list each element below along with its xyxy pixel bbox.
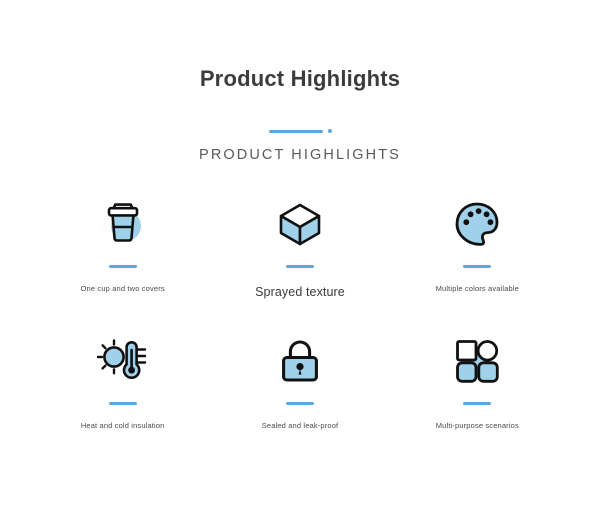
padlock-icon (272, 330, 328, 392)
feature-caption: Sealed and leak-proof (262, 421, 339, 431)
feature-accent-bar (463, 402, 491, 405)
sun-thermometer-icon (95, 330, 151, 392)
paint-palette-icon (449, 193, 505, 255)
header-divider (0, 126, 600, 136)
feature-card-one-cup-and-two-covers: One cup and two covers (34, 193, 211, 330)
product-highlights-page: Product Highlights PRODUCT HIGHLIGHTS On… (0, 0, 600, 526)
feature-accent-bar (286, 402, 314, 405)
feature-accent-bar (463, 265, 491, 268)
feature-card-multi-purpose-scenarios: Multi-purpose scenarios (389, 330, 566, 467)
feature-caption: Multiple colors available (436, 284, 519, 294)
feature-caption: Sprayed texture (255, 284, 345, 300)
coffee-cup-icon (95, 193, 151, 255)
feature-accent-bar (109, 265, 137, 268)
four-shapes-icon (449, 330, 505, 392)
feature-caption: Multi-purpose scenarios (436, 421, 519, 431)
divider-line-icon (269, 130, 323, 133)
feature-caption: One cup and two covers (81, 284, 165, 294)
feature-card-multiple-colors-available: Multiple colors available (389, 193, 566, 330)
feature-grid: One cup and two covers Sprayed texture (0, 193, 600, 467)
feature-accent-bar (286, 265, 314, 268)
3d-cube-icon (272, 193, 328, 255)
feature-caption: Heat and cold insulation (81, 421, 165, 431)
feature-accent-bar (109, 402, 137, 405)
feature-card-sealed-and-leak-proof: Sealed and leak-proof (211, 330, 388, 467)
page-title: Product Highlights (0, 66, 600, 92)
feature-card-heat-and-cold-insulation: Heat and cold insulation (34, 330, 211, 467)
feature-card-sprayed-texture: Sprayed texture (211, 193, 388, 330)
divider-dot-icon (328, 129, 332, 133)
page-header: Product Highlights PRODUCT HIGHLIGHTS (0, 0, 600, 163)
page-subtitle: PRODUCT HIGHLIGHTS (0, 147, 600, 163)
